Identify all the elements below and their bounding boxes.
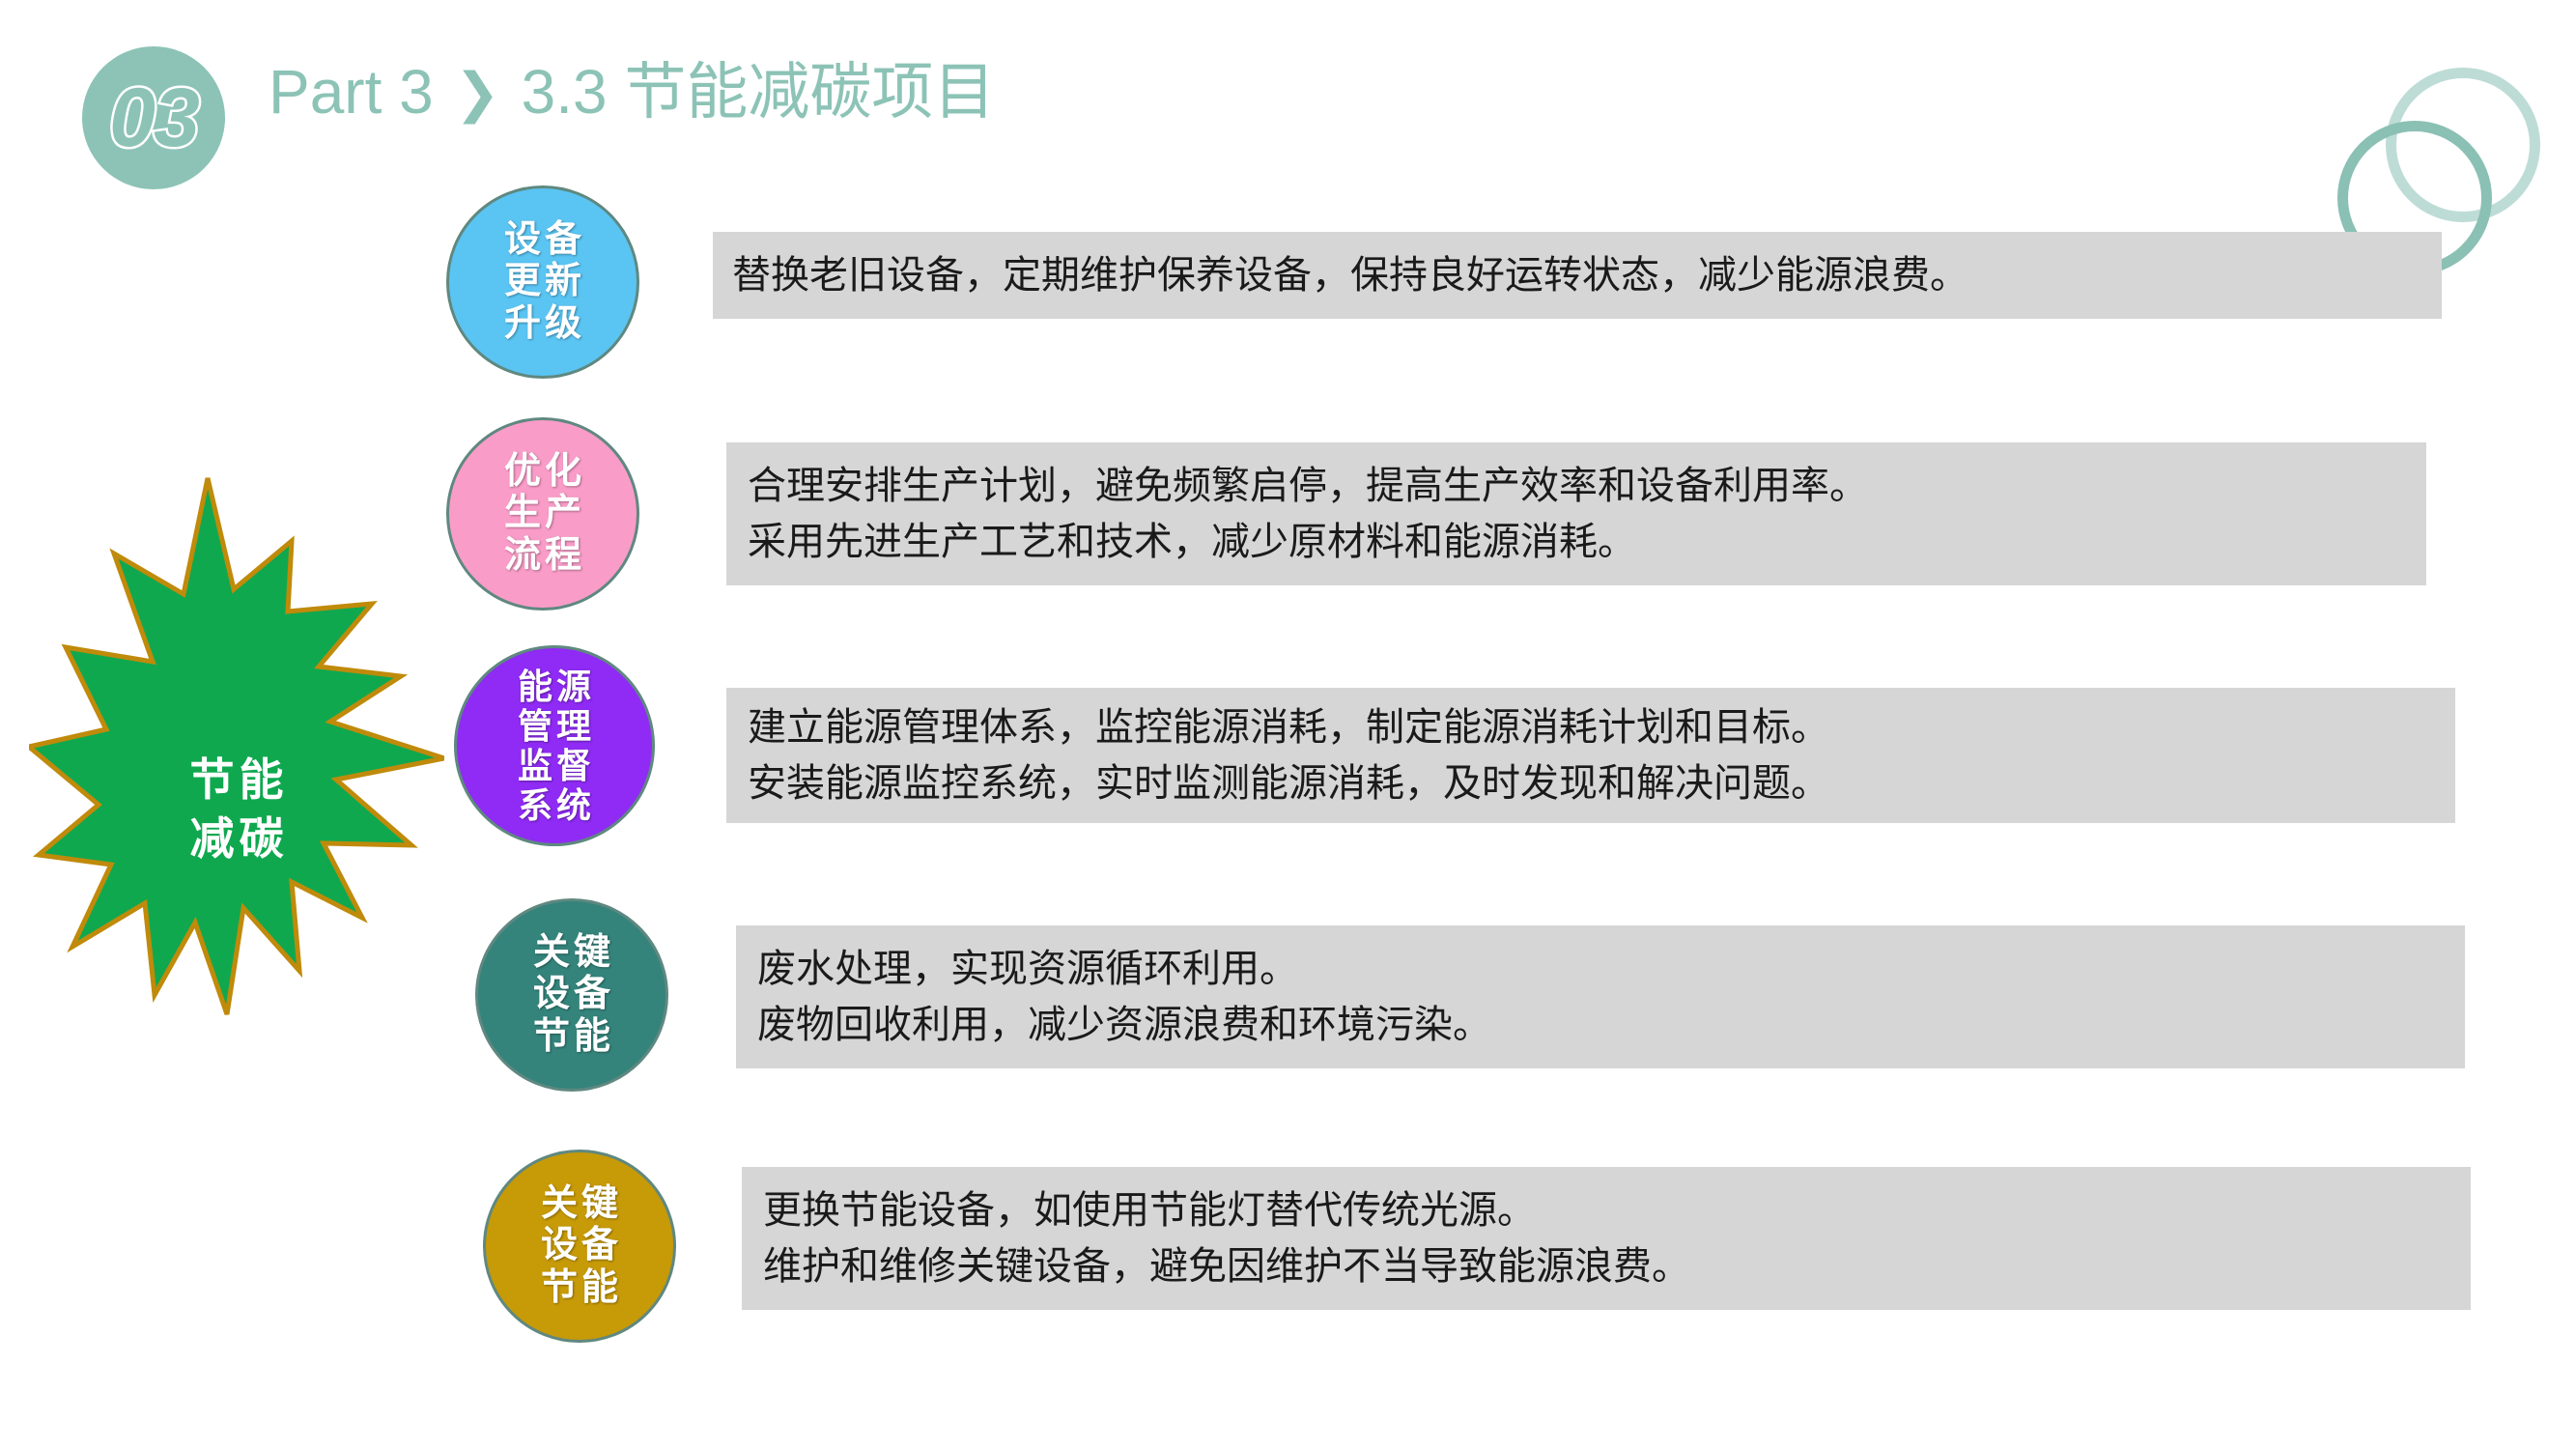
bubble-line: 生产 [500, 493, 585, 534]
description-line: 维护和维修关键设备，避免因维护不当导致能源浪费。 [763, 1238, 2471, 1294]
starburst-label: 节能 减碳 [29, 469, 444, 1135]
description-bar-equipment-upgrade: 替换老旧设备，定期维护保养设备，保持良好运转状态，减少能源浪费。 [713, 232, 2442, 319]
bubble-line: 节能 [529, 1016, 614, 1058]
bubble-line: 优化 [500, 451, 585, 493]
description-line: 替换老旧设备，定期维护保养设备，保持良好运转状态，减少能源浪费。 [732, 247, 2442, 303]
description-line: 合理安排生产计划，避免频繁启停，提高生产效率和设备利用率。 [748, 458, 2426, 514]
breadcrumb-part-label: Part 3 [269, 60, 434, 125]
section-title-text: 3.3 节能减碳项目 [522, 60, 996, 125]
description-line: 安装能源监控系统，实时监测能源消耗，及时发现和解决问题。 [748, 755, 2455, 811]
section-number-badge: 03 [82, 46, 225, 189]
category-bubble-optimize-production[interactable]: 优化 生产 流程 [446, 417, 639, 611]
description-line: 更换节能设备，如使用节能灯替代传统光源。 [763, 1182, 2471, 1238]
bubble-line: 系统 [514, 785, 595, 825]
description-line: 建立能源管理体系，监控能源消耗，制定能源消耗计划和目标。 [748, 699, 2455, 755]
description-line: 废物回收利用，减少资源浪费和环境污染。 [757, 997, 2465, 1053]
description-bar-energy-management: 建立能源管理体系，监控能源消耗，制定能源消耗计划和目标。 安装能源监控系统，实时… [726, 688, 2455, 823]
description-bar-key-equipment-saving-2: 更换节能设备，如使用节能灯替代传统光源。 维护和维修关键设备，避免因维护不当导致… [742, 1167, 2471, 1310]
category-bubble-key-equipment-saving-2[interactable]: 关键 设备 节能 [483, 1150, 676, 1343]
category-bubble-energy-management[interactable]: 能源 管理 监督 系统 [454, 645, 655, 846]
bubble-line: 设备 [500, 219, 585, 261]
description-line: 采用先进生产工艺和技术，减少原材料和能源消耗。 [748, 514, 2426, 570]
bubble-line: 监督 [514, 746, 595, 785]
bubble-line: 能源 [514, 667, 595, 706]
description-bar-key-equipment-saving: 废水处理，实现资源循环利用。 废物回收利用，减少资源浪费和环境污染。 [736, 925, 2465, 1068]
section-number-text: 03 [109, 76, 198, 159]
bubble-line: 节能 [537, 1267, 622, 1309]
starburst-label-line-2: 减碳 [185, 810, 289, 868]
category-bubble-key-equipment-saving[interactable]: 关键 设备 节能 [475, 898, 668, 1092]
bubble-line: 关键 [529, 932, 614, 974]
bubble-line: 关键 [537, 1183, 622, 1225]
chevron-right-icon: ❯ [455, 61, 500, 125]
bubble-line: 流程 [500, 535, 585, 577]
category-bubble-equipment-upgrade[interactable]: 设备 更新 升级 [446, 185, 639, 379]
bubble-line: 设备 [529, 974, 614, 1015]
bubble-line: 更新 [500, 261, 585, 302]
bubble-line: 设备 [537, 1225, 622, 1266]
page-title: Part 3 ❯ 3.3 节能减碳项目 [269, 60, 995, 127]
description-bar-optimize-production: 合理安排生产计划，避免频繁启停，提高生产效率和设备利用率。 采用先进生产工艺和技… [726, 442, 2426, 585]
starburst-label-line-1: 节能 [185, 751, 289, 810]
slide-canvas: 03 Part 3 ❯ 3.3 节能减碳项目 节能 减碳 设备 更新 升级 替换… [0, 0, 2576, 1449]
bubble-line: 管理 [514, 706, 595, 746]
description-line: 废水处理，实现资源循环利用。 [757, 941, 2465, 997]
bubble-line: 升级 [500, 303, 585, 345]
central-starburst: 节能 减碳 [29, 469, 444, 1135]
